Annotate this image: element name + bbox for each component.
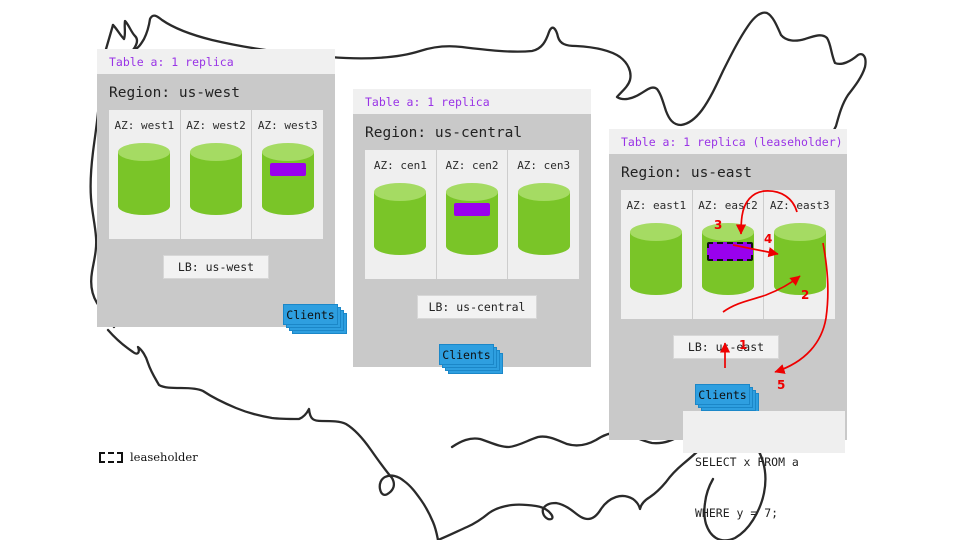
region-title-us-west: Region: us-west xyxy=(97,74,335,110)
cylinder-top xyxy=(374,183,426,201)
cylinder-top xyxy=(774,223,826,241)
legend-label: leaseholder xyxy=(130,450,198,464)
az-label-west3: AZ: west3 xyxy=(258,119,318,132)
panel-header-us-west: Table a: 1 replica xyxy=(97,49,335,74)
az-row-us-west: AZ: west1 AZ: west2 AZ xyxy=(109,110,323,239)
panel-header-label: Table a: 1 replica (leaseholder) xyxy=(621,135,843,149)
clients-us-central[interactable]: Clients xyxy=(439,344,503,374)
az-cell-cen2[interactable]: AZ: cen2 xyxy=(437,150,509,279)
panel-body-us-east: Region: us-east AZ: east1 AZ: east2 xyxy=(609,154,847,440)
az-cell-east1[interactable]: AZ: east1 xyxy=(621,190,693,319)
region-title-us-central: Region: us-central xyxy=(353,114,591,150)
cylinder-cen3[interactable] xyxy=(518,183,570,255)
leaseholder-block-east2[interactable] xyxy=(707,242,753,261)
clients-label: Clients xyxy=(286,308,334,322)
step-number-5: 5 xyxy=(777,378,785,392)
region-panel-us-east: Table a: 1 replica (leaseholder) Region:… xyxy=(609,129,847,440)
cylinder-top xyxy=(702,223,754,241)
az-row-us-central: AZ: cen1 AZ: cen2 xyxy=(365,150,579,279)
dashed-rect-icon xyxy=(99,452,123,463)
load-balancer-us-east[interactable]: LB: us-east xyxy=(673,335,779,359)
az-label-east2: AZ: east2 xyxy=(698,199,758,212)
step-number-4: 4 xyxy=(764,232,772,246)
clients-us-east[interactable]: Clients xyxy=(695,384,759,414)
clients-card-front[interactable]: Clients xyxy=(439,344,494,365)
cylinder-top xyxy=(262,143,314,161)
clients-card-front[interactable]: Clients xyxy=(695,384,750,405)
cylinder-west3[interactable] xyxy=(262,143,314,215)
lb-label: LB: us-west xyxy=(178,260,254,274)
panel-body-us-west: Region: us-west AZ: west1 AZ: west2 xyxy=(97,74,335,327)
cylinder-top xyxy=(518,183,570,201)
region-title-us-east: Region: us-east xyxy=(609,154,847,190)
region-panel-us-central: Table a: 1 replica Region: us-central AZ… xyxy=(353,89,591,367)
az-cell-cen3[interactable]: AZ: cen3 xyxy=(508,150,579,279)
panel-header-us-east: Table a: 1 replica (leaseholder) xyxy=(609,129,847,154)
az-label-east3: AZ: east3 xyxy=(770,199,830,212)
az-label-east1: AZ: east1 xyxy=(627,199,687,212)
sql-query-box: SELECT x FROM a WHERE y = 7; xyxy=(683,411,845,453)
az-cell-east2[interactable]: AZ: east2 xyxy=(693,190,765,319)
clients-card-front[interactable]: Clients xyxy=(283,304,338,325)
az-cell-west1[interactable]: AZ: west1 xyxy=(109,110,181,239)
az-cell-west3[interactable]: AZ: west3 xyxy=(252,110,323,239)
panel-body-us-central: Region: us-central AZ: cen1 AZ: cen2 xyxy=(353,114,591,367)
step-number-2: 2 xyxy=(801,288,809,302)
cylinder-west2[interactable] xyxy=(190,143,242,215)
legend: leaseholder xyxy=(99,450,198,464)
cylinder-top xyxy=(118,143,170,161)
az-label-cen1: AZ: cen1 xyxy=(374,159,427,172)
az-cell-west2[interactable]: AZ: west2 xyxy=(181,110,253,239)
az-cell-east3[interactable]: AZ: east3 xyxy=(764,190,835,319)
replica-block-cen2[interactable] xyxy=(454,203,490,216)
load-balancer-us-west[interactable]: LB: us-west xyxy=(163,255,269,279)
az-label-west2: AZ: west2 xyxy=(186,119,246,132)
cylinder-east1[interactable] xyxy=(630,223,682,295)
sql-line-1: SELECT x FROM a xyxy=(695,454,833,471)
panel-header-label: Table a: 1 replica xyxy=(109,55,234,69)
step-number-3: 3 xyxy=(714,218,722,232)
az-label-west1: AZ: west1 xyxy=(115,119,175,132)
clients-label: Clients xyxy=(698,388,746,402)
clients-us-west[interactable]: Clients xyxy=(283,304,347,334)
cylinder-cen1[interactable] xyxy=(374,183,426,255)
cylinder-top xyxy=(446,183,498,201)
cylinder-top xyxy=(630,223,682,241)
lb-label: LB: us-central xyxy=(429,300,526,314)
lb-label: LB: us-east xyxy=(688,340,764,354)
az-label-cen2: AZ: cen2 xyxy=(446,159,499,172)
load-balancer-us-central[interactable]: LB: us-central xyxy=(417,295,537,319)
cylinder-top xyxy=(190,143,242,161)
sql-line-2: WHERE y = 7; xyxy=(695,505,833,522)
panel-header-label: Table a: 1 replica xyxy=(365,95,490,109)
step-number-1: 1 xyxy=(739,338,747,352)
cylinder-east3[interactable] xyxy=(774,223,826,295)
cylinder-east2[interactable] xyxy=(702,223,754,295)
cylinder-west1[interactable] xyxy=(118,143,170,215)
clients-label: Clients xyxy=(442,348,490,362)
az-cell-cen1[interactable]: AZ: cen1 xyxy=(365,150,437,279)
panel-header-us-central: Table a: 1 replica xyxy=(353,89,591,114)
region-panel-us-west: Table a: 1 replica Region: us-west AZ: w… xyxy=(97,49,335,327)
az-label-cen3: AZ: cen3 xyxy=(517,159,570,172)
cylinder-cen2[interactable] xyxy=(446,183,498,255)
replica-block-west3[interactable] xyxy=(270,163,306,176)
diagram-canvas: Table a: 1 replica Region: us-west AZ: w… xyxy=(0,0,960,540)
